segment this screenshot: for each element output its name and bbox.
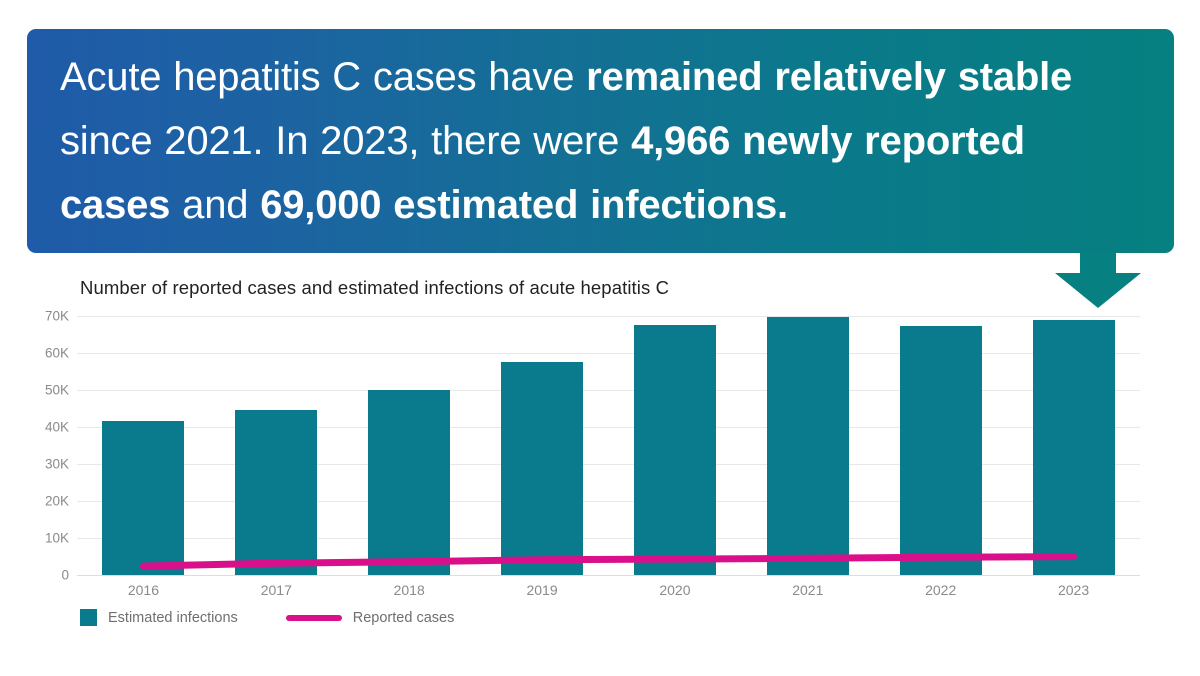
- line-series-reported-cases: [77, 316, 1140, 575]
- legend-item[interactable]: Estimated infections: [80, 609, 238, 626]
- callout-segment-4: and: [170, 183, 260, 227]
- y-tick-label: 60K: [9, 346, 69, 361]
- x-tick-label: 2018: [394, 582, 425, 598]
- y-tick-label: 70K: [9, 309, 69, 324]
- callout-segment-1: remained relatively stable: [586, 55, 1072, 99]
- x-tick-label: 2016: [128, 582, 159, 598]
- x-tick-label: 2023: [1058, 582, 1089, 598]
- y-tick-label: 10K: [9, 531, 69, 546]
- legend-label: Reported cases: [353, 610, 455, 626]
- y-tick-label: 30K: [9, 457, 69, 472]
- gridline: [77, 575, 1140, 576]
- y-tick-label: 0: [9, 568, 69, 583]
- x-tick-label: 2019: [526, 582, 557, 598]
- chart-title: Number of reported cases and estimated i…: [80, 277, 669, 299]
- callout-segment-0: Acute hepatitis C cases have: [60, 55, 586, 99]
- callout-banner: Acute hepatitis C cases have remained re…: [27, 29, 1174, 253]
- legend-square-swatch: [80, 609, 97, 626]
- y-tick-label: 40K: [9, 420, 69, 435]
- x-tick-label: 2017: [261, 582, 292, 598]
- x-tick-label: 2022: [925, 582, 956, 598]
- y-tick-label: 20K: [9, 494, 69, 509]
- x-tick-label: 2021: [792, 582, 823, 598]
- callout-text: Acute hepatitis C cases have remained re…: [60, 45, 1140, 237]
- y-tick-label: 50K: [9, 383, 69, 398]
- plot-area: 010K20K30K40K50K60K70K 20162017201820192…: [77, 316, 1140, 575]
- chart-container: Number of reported cases and estimated i…: [0, 258, 1200, 658]
- chart-legend: Estimated infectionsReported cases: [80, 609, 488, 626]
- callout-segment-5: 69,000 estimated infections.: [260, 183, 788, 227]
- legend-line-swatch: [286, 615, 342, 621]
- legend-item[interactable]: Reported cases: [286, 610, 455, 626]
- callout-segment-2: since 2021. In 2023, there were: [60, 119, 631, 163]
- x-tick-label: 2020: [659, 582, 690, 598]
- legend-label: Estimated infections: [108, 610, 238, 626]
